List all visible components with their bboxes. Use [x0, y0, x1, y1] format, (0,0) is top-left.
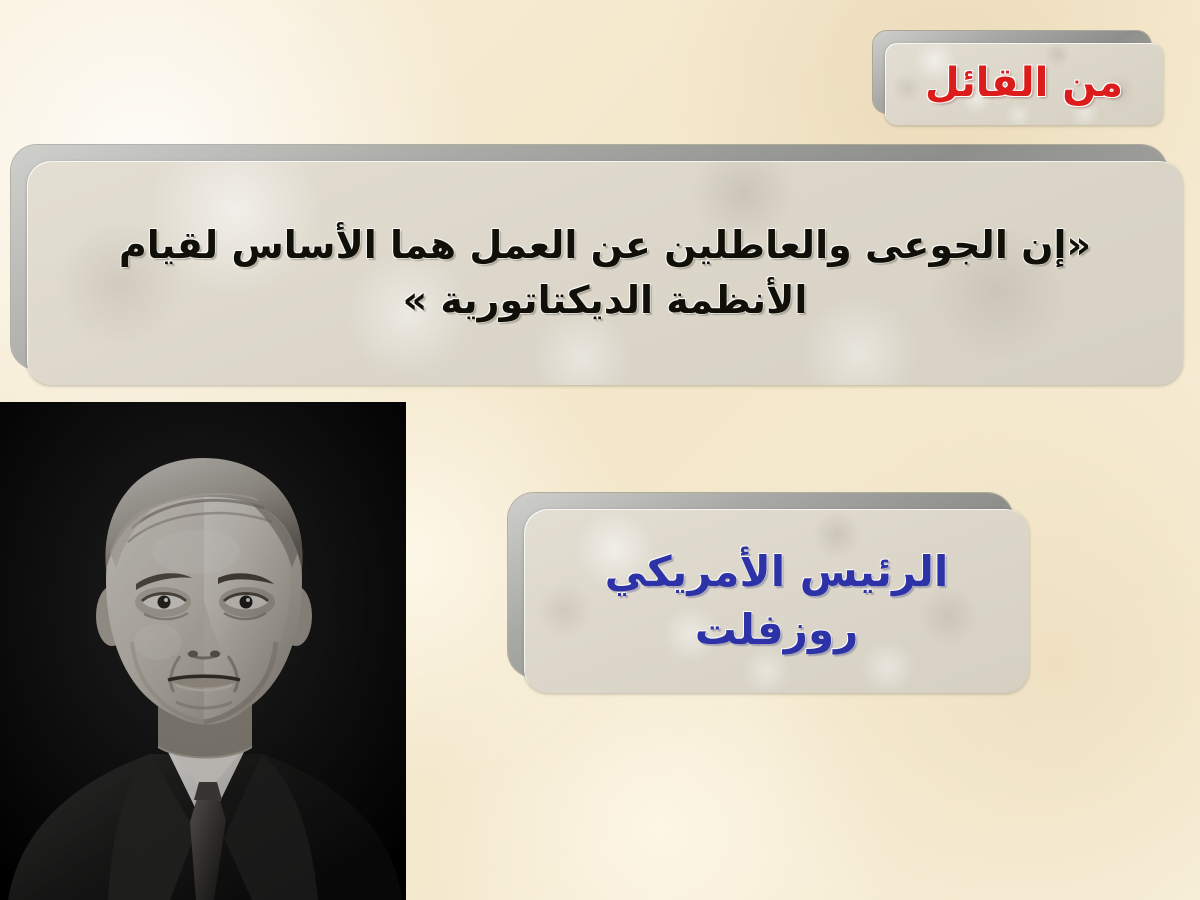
title-plaque: من القائل	[873, 31, 1163, 125]
portrait-photo	[0, 402, 406, 900]
quote-text: «إن الجوعى والعاطلين عن العمل هما الأساس…	[39, 214, 1171, 332]
portrait-photo-illustration	[0, 402, 406, 900]
slide-canvas: من القائل «إن الجوعى والعاطلين عن العمل …	[0, 0, 1200, 900]
quote-plaque-face: «إن الجوعى والعاطلين عن العمل هما الأساس…	[27, 161, 1183, 385]
attribution-plaque: الرئيس الأمريكي روزفلت	[508, 493, 1029, 693]
quote-plaque: «إن الجوعى والعاطلين عن العمل هما الأساس…	[11, 145, 1183, 385]
page-title: من القائل	[919, 62, 1129, 105]
attribution-plaque-face: الرئيس الأمريكي روزفلت	[524, 509, 1029, 693]
title-plaque-face: من القائل	[885, 43, 1163, 125]
attribution-text: الرئيس الأمريكي روزفلت	[524, 543, 1029, 659]
